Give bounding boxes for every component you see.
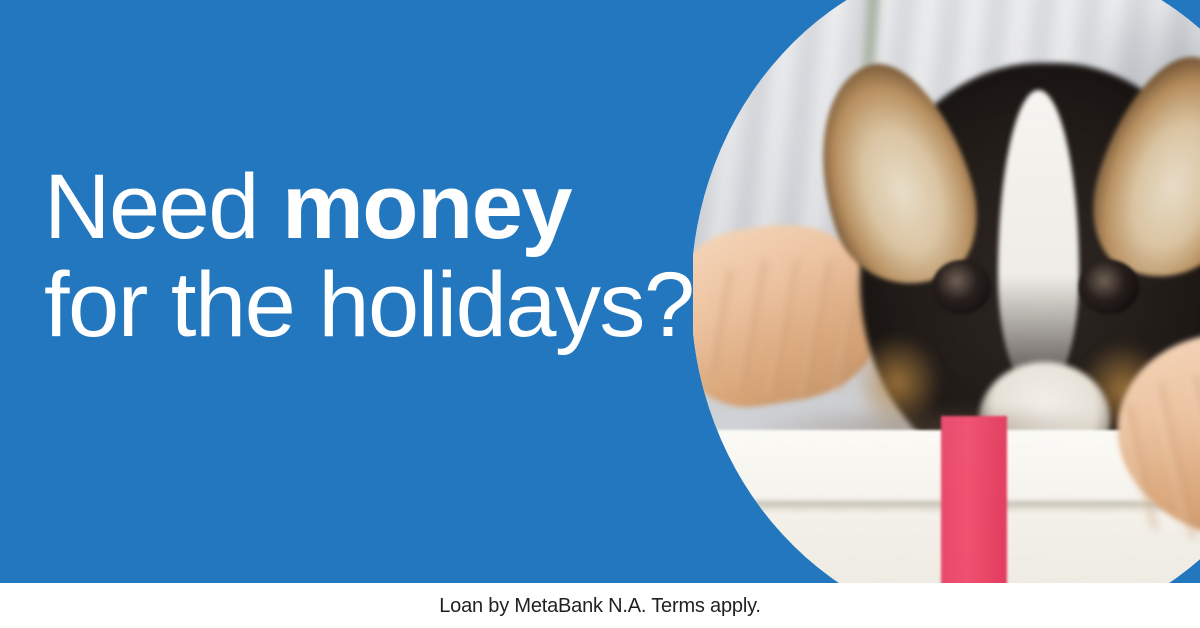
promo-banner: Need money for the holidays? bbox=[0, 0, 1200, 628]
photo-soften-overlay bbox=[693, 0, 1200, 583]
headline: Need money for the holidays? bbox=[44, 158, 704, 354]
photo-disc bbox=[693, 0, 1200, 583]
disclaimer-strip: Loan by MetaBank N.A. Terms apply. bbox=[0, 583, 1200, 628]
headline-line-1-prefix: Need bbox=[44, 156, 282, 258]
headline-line-2: for the holidays? bbox=[44, 256, 704, 354]
photo-medallion bbox=[693, 0, 1200, 583]
disclaimer-text: Loan by MetaBank N.A. Terms apply. bbox=[439, 594, 761, 618]
headline-line-1: Need money bbox=[44, 158, 704, 256]
headline-line-1-emphasis: money bbox=[282, 156, 571, 258]
photo-scene bbox=[693, 0, 1200, 583]
